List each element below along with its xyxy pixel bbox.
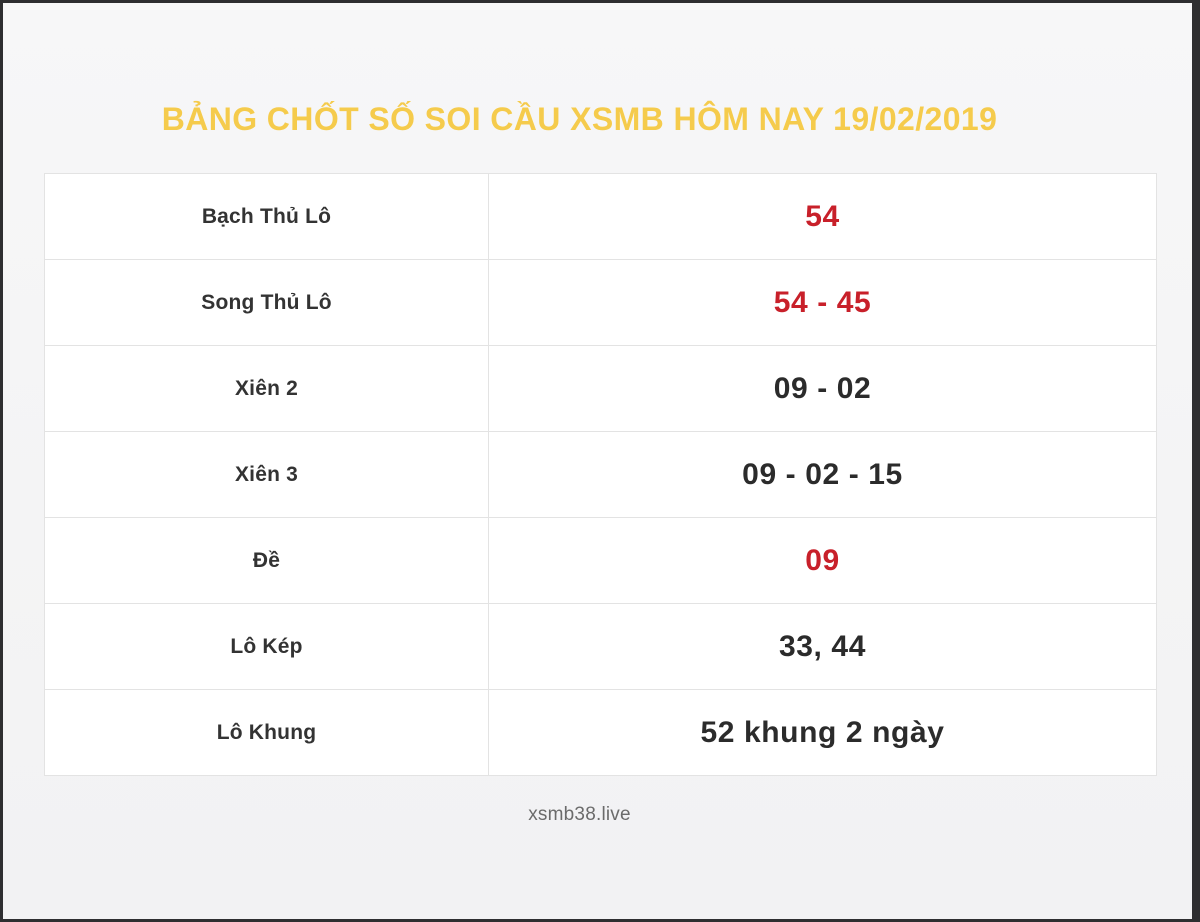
row-label: Xiên 3 [235,463,298,486]
table-row: Đề 09 [45,518,1157,604]
table-row: Lô Khung 52 khung 2 ngày [45,690,1157,776]
row-label: Đề [253,549,280,572]
page-frame: BẢNG CHỐT SỐ SOI CẦU XSMB HÔM NAY 19/02/… [3,3,1192,919]
row-label: Lô Khung [217,721,317,744]
prediction-table: Bạch Thủ Lô 54 Song Thủ Lô 54 - 45 [44,173,1157,776]
table-row: Song Thủ Lô 54 - 45 [45,260,1157,346]
row-value: 33, 44 [779,630,866,663]
row-label-cell: Bạch Thủ Lô [45,174,489,260]
row-label-cell: Đề [45,518,489,604]
row-label: Lô Kép [230,635,302,658]
row-label-cell: Lô Khung [45,690,489,776]
row-value-cell: 54 [489,174,1157,260]
table-row: Bạch Thủ Lô 54 [45,174,1157,260]
row-value-cell: 09 - 02 - 15 [489,432,1157,518]
row-label-cell: Xiên 2 [45,346,489,432]
page-title: BẢNG CHỐT SỐ SOI CẦU XSMB HÔM NAY 19/02/… [3,99,1156,139]
row-value: 52 khung 2 ngày [700,716,944,749]
row-value-cell: 33, 44 [489,604,1157,690]
title-section: BẢNG CHỐT SỐ SOI CẦU XSMB HÔM NAY 19/02/… [3,3,1156,139]
row-label-cell: Song Thủ Lô [45,260,489,346]
table-row: Xiên 3 09 - 02 - 15 [45,432,1157,518]
row-label: Song Thủ Lô [201,291,332,314]
table-row: Xiên 2 09 - 02 [45,346,1157,432]
table-row: Lô Kép 33, 44 [45,604,1157,690]
footer-section: xsmb38.live [3,804,1156,826]
row-value-cell: 52 khung 2 ngày [489,690,1157,776]
row-label-cell: Lô Kép [45,604,489,690]
row-value: 54 [805,200,840,233]
row-value: 09 - 02 - 15 [742,458,903,491]
row-label: Bạch Thủ Lô [202,205,331,228]
row-value-cell: 54 - 45 [489,260,1157,346]
row-value-cell: 09 - 02 [489,346,1157,432]
site-credit: xsmb38.live [528,804,631,825]
row-value-cell: 09 [489,518,1157,604]
page-content: BẢNG CHỐT SỐ SOI CẦU XSMB HÔM NAY 19/02/… [3,3,1156,919]
row-value: 09 [805,544,840,577]
row-value: 09 - 02 [774,372,872,405]
row-label-cell: Xiên 3 [45,432,489,518]
prediction-table-container: Bạch Thủ Lô 54 Song Thủ Lô 54 - 45 [44,173,1156,776]
prediction-table-body: Bạch Thủ Lô 54 Song Thủ Lô 54 - 45 [45,174,1157,776]
row-label: Xiên 2 [235,377,298,400]
row-value: 54 - 45 [774,286,872,319]
